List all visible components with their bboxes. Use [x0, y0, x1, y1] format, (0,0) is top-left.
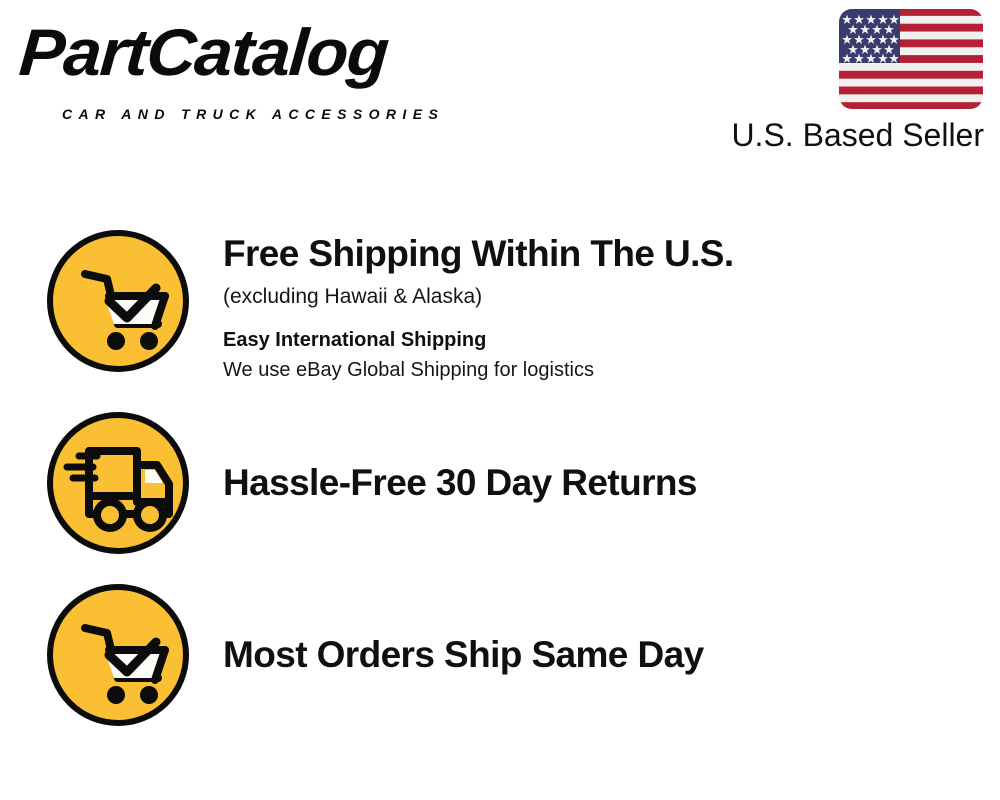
feature-row: Free Shipping Within The U.S. (excluding… — [0, 228, 1000, 384]
shopping-cart-check-icon — [45, 228, 191, 374]
feature-headline: Free Shipping Within The U.S. — [223, 232, 1000, 276]
feature-subtext: (excluding Hawaii & Alaska) — [223, 282, 1000, 312]
us-based-seller-label: U.S. Based Seller — [714, 116, 984, 154]
feature-row: Most Orders Ship Same Day — [0, 582, 1000, 728]
feature-text: Hassle-Free 30 Day Returns — [191, 461, 1000, 505]
shopping-cart-check-icon — [45, 582, 191, 728]
delivery-truck-icon — [45, 410, 191, 556]
feature-headline: Hassle-Free 30 Day Returns — [223, 461, 1000, 505]
us-based-seller-badge: U.S. Based Seller — [714, 8, 984, 154]
banner-header: PartCatalog CAR AND TRUCK ACCESSORIES — [0, 0, 1000, 180]
feature-note: We use eBay Global Shipping for logistic… — [223, 356, 1000, 384]
feature-secondary-headline: Easy International Shipping — [223, 326, 1000, 354]
feature-list: Free Shipping Within The U.S. (excluding… — [0, 228, 1000, 728]
brand-wordmark: PartCatalog — [17, 18, 511, 86]
feature-headline: Most Orders Ship Same Day — [223, 633, 1000, 677]
feature-row: Hassle-Free 30 Day Returns — [0, 410, 1000, 556]
feature-text: Most Orders Ship Same Day — [191, 633, 1000, 677]
brand-tagline: CAR AND TRUCK ACCESSORIES — [62, 106, 444, 122]
us-flag-icon — [838, 8, 984, 110]
brand-logo[interactable]: PartCatalog CAR AND TRUCK ACCESSORIES — [22, 18, 492, 118]
feature-text: Free Shipping Within The U.S. (excluding… — [191, 228, 1000, 384]
